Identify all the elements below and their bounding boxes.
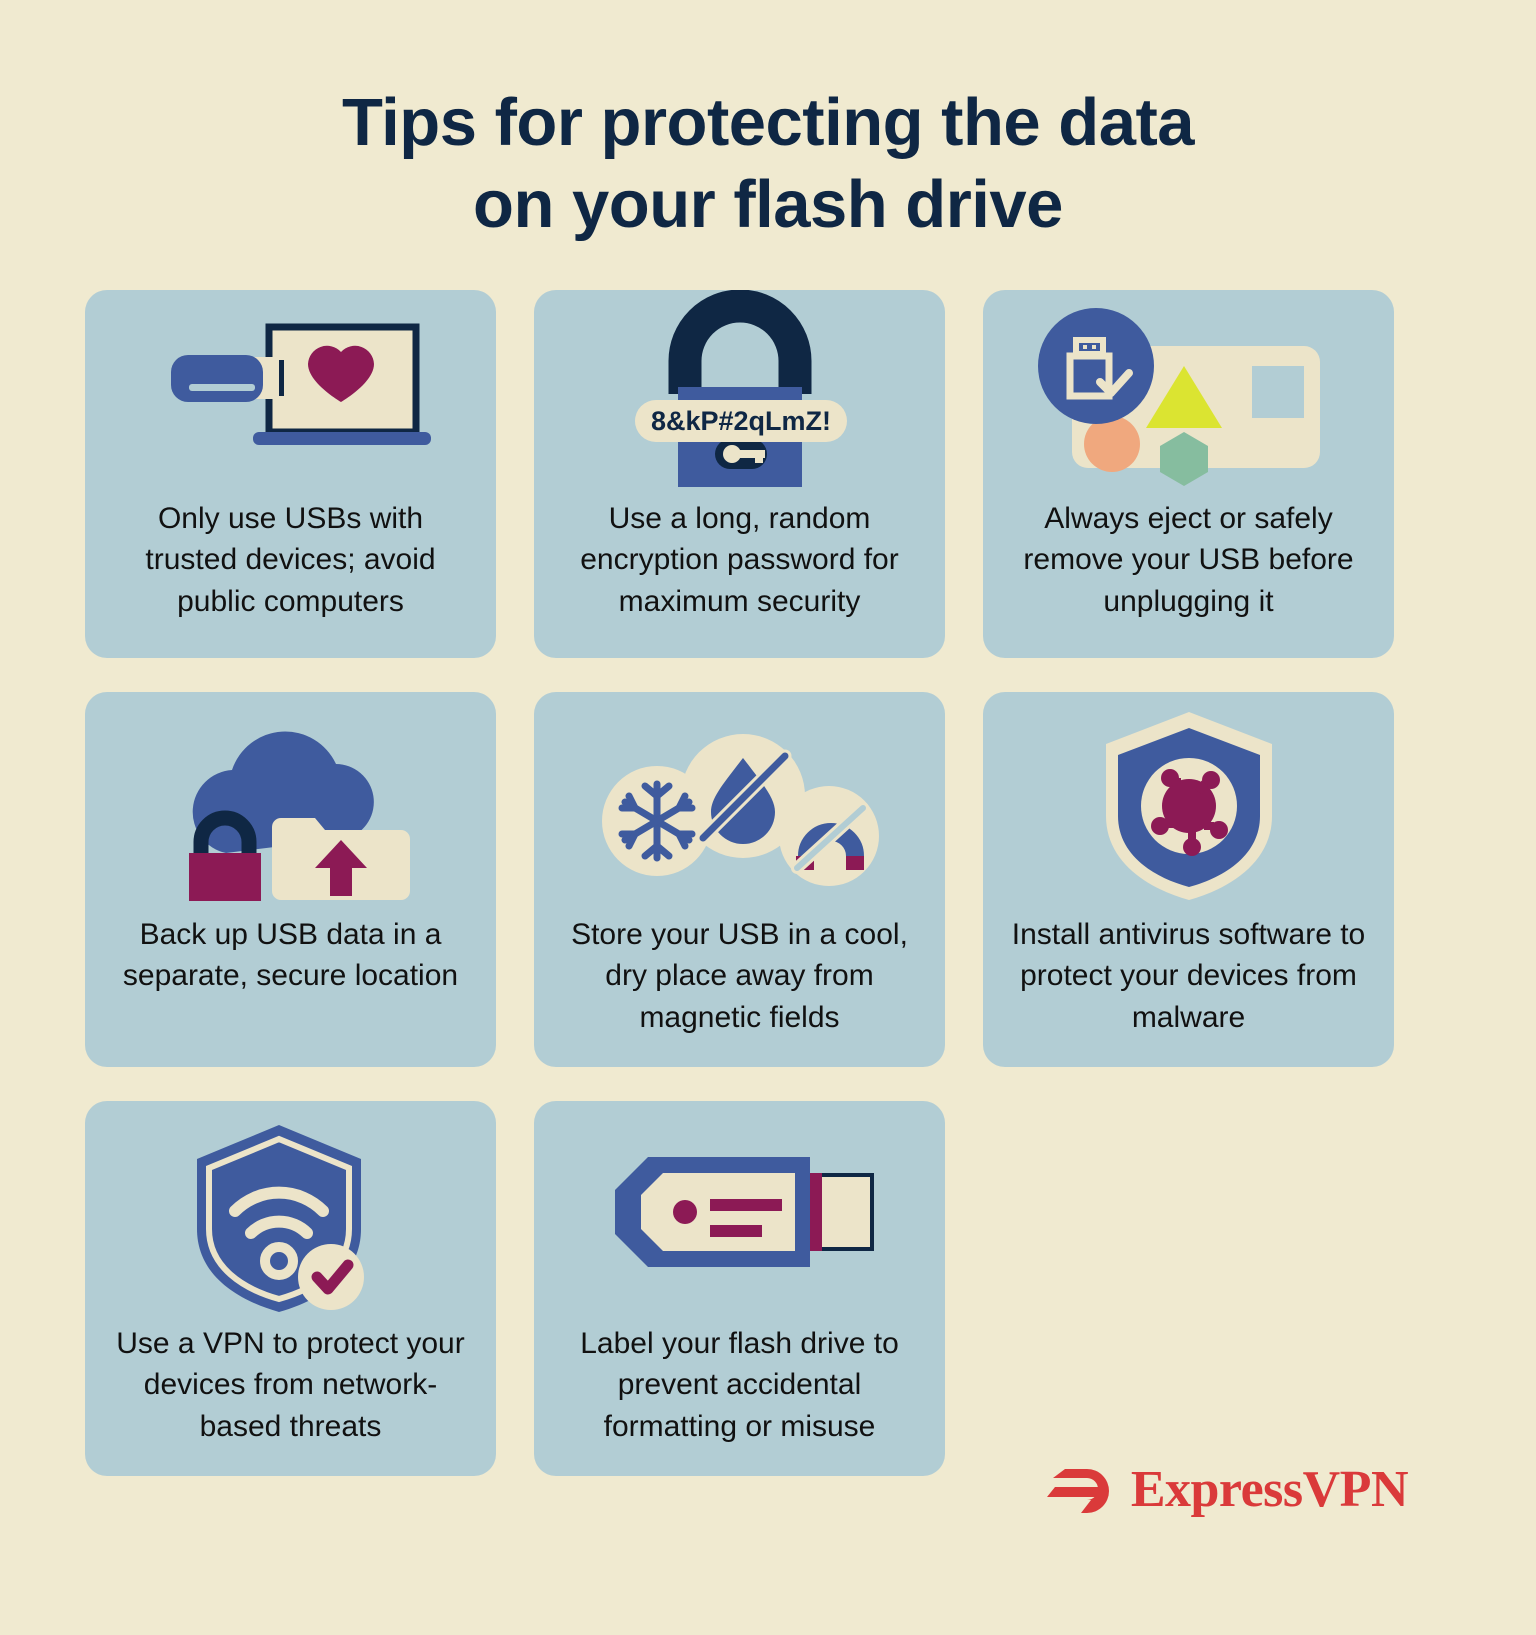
tip-caption: Store your USB in a cool, dry place away…	[534, 914, 945, 1038]
snowflake-nowater-nomagnet-icon	[595, 716, 885, 891]
icon-area	[534, 692, 945, 914]
password-text: 8&kP#2qLmZ!	[650, 406, 830, 436]
tip-caption: Label your flash drive to prevent accide…	[534, 1323, 945, 1447]
usb-tag-label-icon	[605, 1147, 875, 1277]
icon-area	[534, 1101, 945, 1323]
tip-card-safe-eject: Always eject or safely remove your USB b…	[983, 290, 1394, 658]
icon-area	[85, 692, 496, 914]
icon-area	[983, 290, 1394, 498]
icon-area: 8&kP#2qLmZ!	[534, 290, 945, 498]
shield-wifi-check-icon	[191, 1115, 391, 1310]
expressvpn-logo: ExpressVPN	[1043, 1463, 1408, 1517]
tip-card-storage-conditions: Store your USB in a cool, dry place away…	[534, 692, 945, 1067]
icon-area	[85, 1101, 496, 1323]
tip-caption: Back up USB data in a separate, secure l…	[85, 914, 496, 997]
tip-card-use-vpn: Use a VPN to protect your devices from n…	[85, 1101, 496, 1476]
brand-name: ExpressVPN	[1131, 1464, 1408, 1516]
tips-grid: Only use USBs with trusted devices; avoi…	[85, 290, 1395, 1476]
tip-card-antivirus: Install antivirus software to protect yo…	[983, 692, 1394, 1067]
tip-card-label-drive: Label your flash drive to prevent accide…	[534, 1101, 945, 1476]
title-line-1: Tips for protecting the data	[342, 85, 1194, 160]
expressvpn-swoosh-icon	[1043, 1463, 1115, 1517]
tip-caption: Only use USBs with trusted devices; avoi…	[85, 498, 496, 622]
padlock-password-icon: 8&kP#2qLmZ!	[615, 299, 865, 489]
usb-laptop-heart-icon	[141, 307, 441, 482]
usb-eject-check-icon	[1034, 304, 1344, 484]
circle-shape	[1084, 416, 1140, 472]
icon-area	[85, 290, 496, 498]
tip-card-encryption-password: 8&kP#2qLmZ! Use a long, random encryptio…	[534, 290, 945, 658]
tip-caption: Use a long, random encryption password f…	[534, 498, 945, 622]
icon-area	[983, 692, 1394, 914]
tip-card-trusted-devices: Only use USBs with trusted devices; avoi…	[85, 290, 496, 658]
cloud-lock-upload-icon	[171, 708, 411, 898]
page-title: Tips for protecting the data on your fla…	[0, 0, 1536, 245]
tip-caption: Always eject or safely remove your USB b…	[983, 498, 1394, 622]
tip-caption: Install antivirus software to protect yo…	[983, 914, 1394, 1038]
title-line-2: on your flash drive	[473, 167, 1063, 242]
shield-virus-icon	[1094, 706, 1284, 901]
tip-card-backup-data: Back up USB data in a separate, secure l…	[85, 692, 496, 1067]
square-shape	[1252, 366, 1304, 418]
tip-caption: Use a VPN to protect your devices from n…	[85, 1323, 496, 1447]
infographic-page: Tips for protecting the data on your fla…	[0, 0, 1536, 1635]
